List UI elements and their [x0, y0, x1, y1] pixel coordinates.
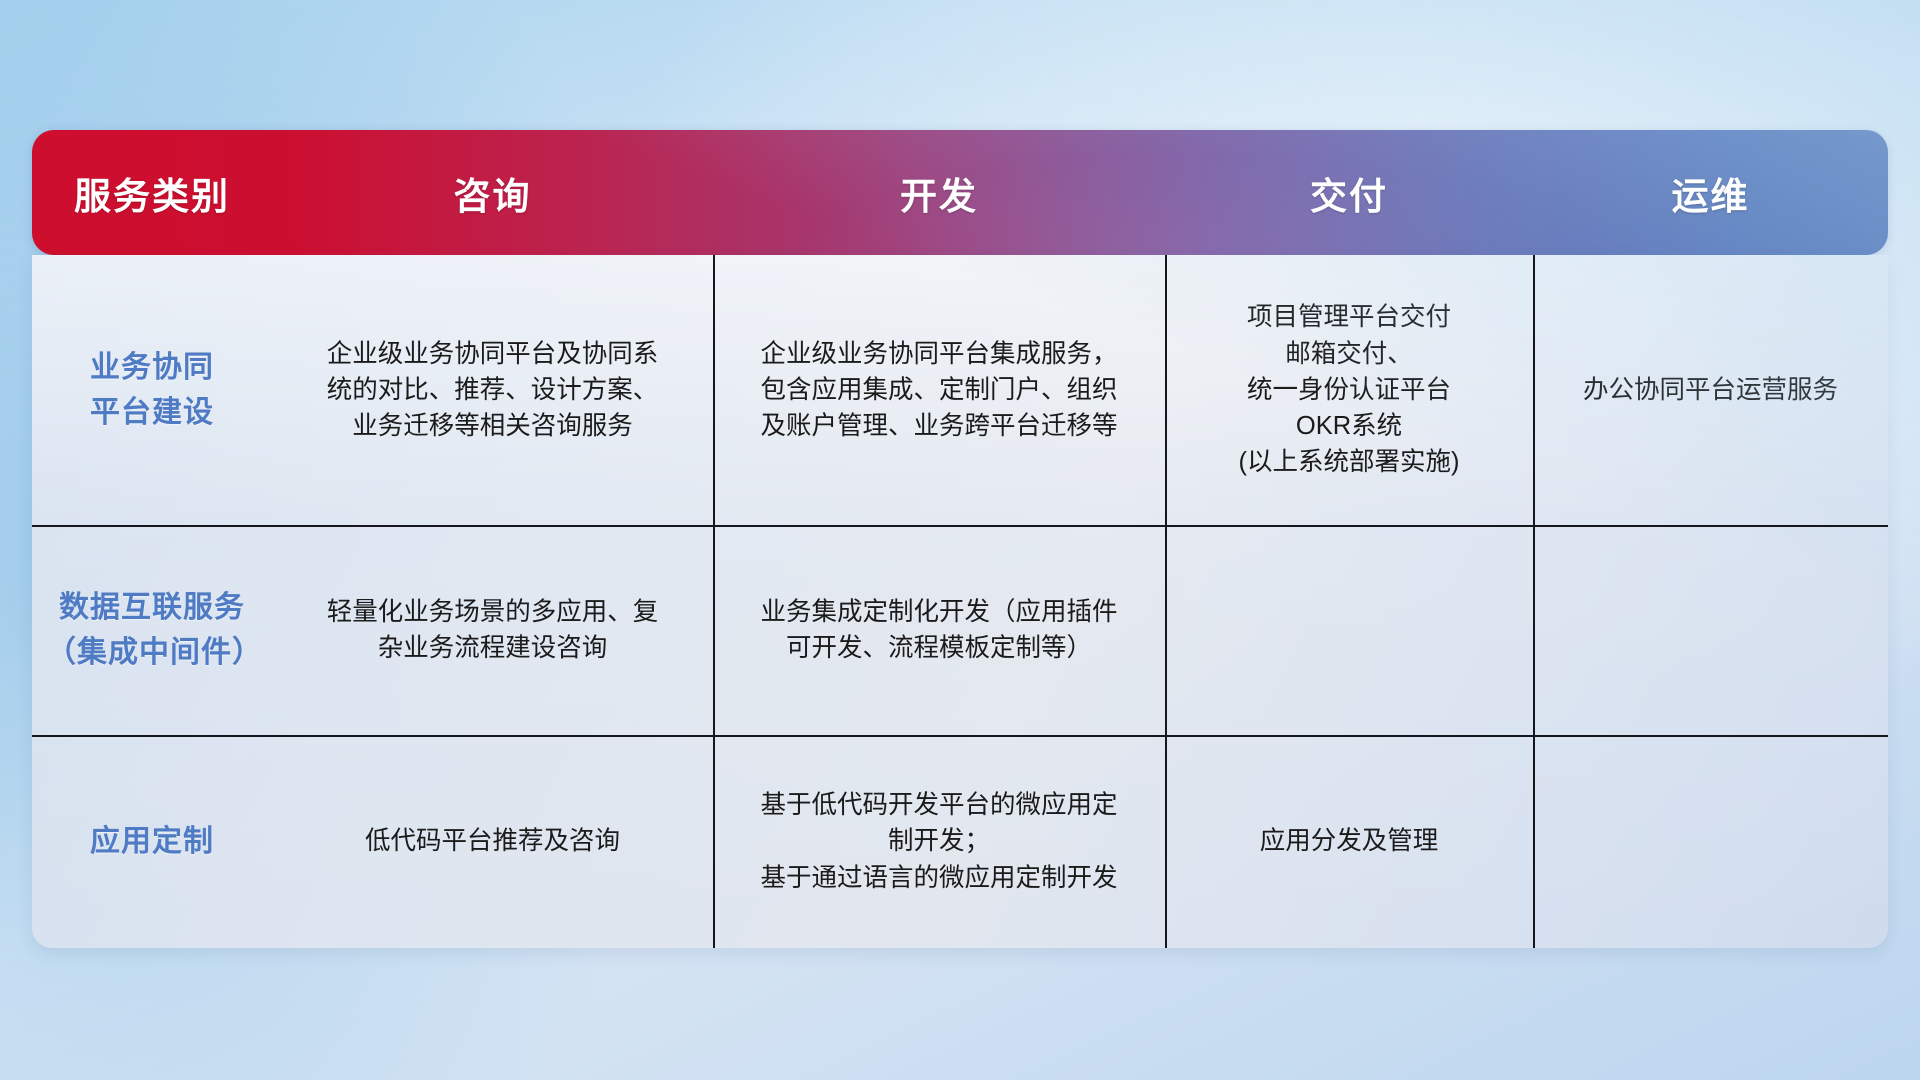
cell-r3-delivery: 应用分发及管理 [1165, 735, 1533, 948]
column-header-service-category: 服务类别 [32, 130, 272, 255]
table-body: 业务协同 平台建设 企业级业务协同平台及协同系 统的对比、推荐、设计方案、 业务… [32, 255, 1888, 948]
row-divider-1 [32, 525, 1888, 527]
service-matrix-table: 服务类别 咨询 开发 交付 运维 业务协同 平台建设 企业级业务协同平台及协同系… [32, 130, 1888, 948]
cell-r1-development: 企业级业务协同平台集成服务， 包含应用集成、定制门户、组织 及账户管理、业务跨平… [713, 255, 1165, 525]
cell-r1-consulting: 企业级业务协同平台及协同系 统的对比、推荐、设计方案、 业务迁移等相关咨询服务 [272, 255, 713, 525]
cell-r1-operations: 办公协同平台运营服务 [1533, 255, 1888, 525]
table-header-row: 服务类别 咨询 开发 交付 运维 [32, 130, 1888, 255]
table-row: 业务协同 平台建设 企业级业务协同平台及协同系 统的对比、推荐、设计方案、 业务… [32, 255, 1888, 525]
cell-r1-delivery: 项目管理平台交付 邮箱交付、 统一身份认证平台 OKR系统 (以上系统部署实施) [1165, 255, 1533, 525]
row-label-app-customization: 应用定制 [32, 735, 272, 948]
cell-r2-consulting: 轻量化业务场景的多应用、复 杂业务流程建设咨询 [272, 525, 713, 735]
column-divider-3 [1533, 255, 1535, 948]
table-row: 应用定制 低代码平台推荐及咨询 基于低代码开发平台的微应用定 制开发； 基于通过… [32, 735, 1888, 948]
column-header-development: 开发 [713, 130, 1165, 255]
column-header-operations: 运维 [1533, 130, 1888, 255]
cell-r3-operations [1533, 735, 1888, 948]
cell-r2-operations [1533, 525, 1888, 735]
cell-r2-delivery [1165, 525, 1533, 735]
cell-r2-development: 业务集成定制化开发（应用插件 可开发、流程模板定制等） [713, 525, 1165, 735]
table-row: 数据互联服务 （集成中间件） 轻量化业务场景的多应用、复 杂业务流程建设咨询 业… [32, 525, 1888, 735]
row-label-business-collaboration: 业务协同 平台建设 [32, 255, 272, 525]
cell-r3-consulting: 低代码平台推荐及咨询 [272, 735, 713, 948]
slide-canvas: 服务类别 咨询 开发 交付 运维 业务协同 平台建设 企业级业务协同平台及协同系… [0, 0, 1920, 1080]
column-header-consulting: 咨询 [272, 130, 713, 255]
column-divider-2 [1165, 255, 1167, 948]
column-header-delivery: 交付 [1165, 130, 1533, 255]
row-divider-2 [32, 735, 1888, 737]
cell-r3-development: 基于低代码开发平台的微应用定 制开发； 基于通过语言的微应用定制开发 [713, 735, 1165, 948]
column-divider-1 [713, 255, 715, 948]
row-label-data-interconnect: 数据互联服务 （集成中间件） [32, 525, 272, 735]
